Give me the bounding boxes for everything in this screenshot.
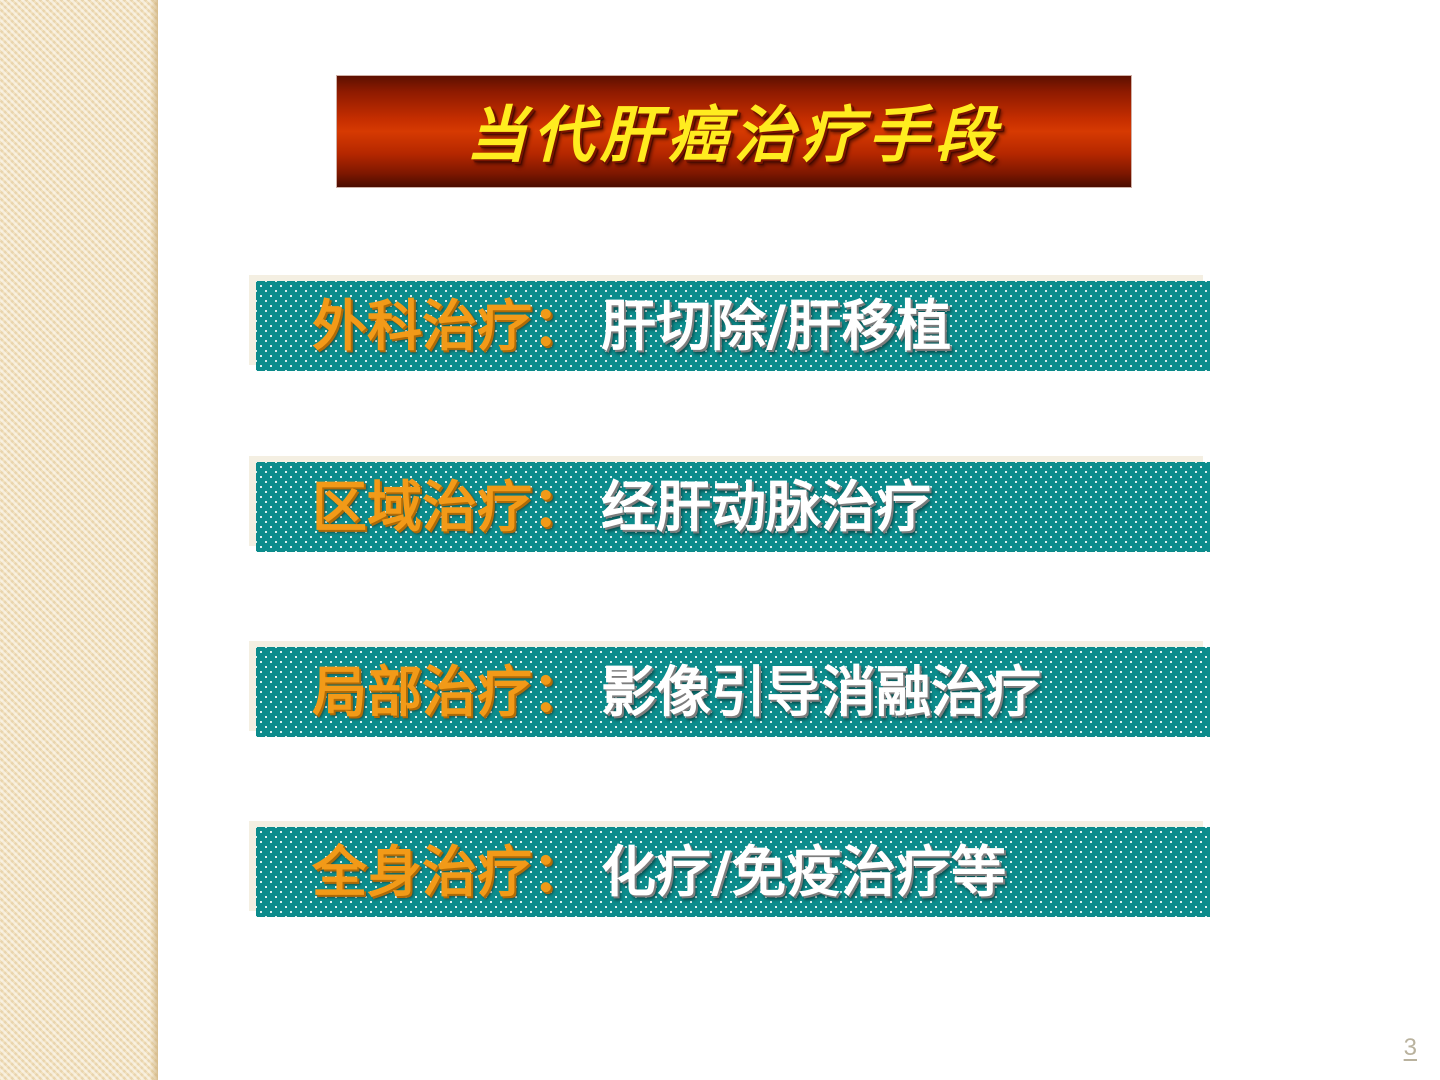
- treatment-category-label: 区域治疗：: [312, 480, 587, 535]
- treatment-bar-surgical: 外科治疗： 肝切除/肝移植: [256, 281, 1210, 371]
- treatment-detail-value: 化疗/免疫治疗等: [601, 845, 1006, 900]
- treatment-bar-regional: 区域治疗： 经肝动脉治疗: [256, 462, 1210, 552]
- treatment-detail-value: 影像引导消融治疗: [601, 665, 1041, 720]
- title-banner: 当代肝癌治疗手段: [337, 76, 1131, 187]
- treatment-category-label: 局部治疗：: [312, 665, 587, 720]
- sidebar-edge-shading: [150, 0, 158, 1080]
- treatment-bar-systemic: 全身治疗： 化疗/免疫治疗等: [256, 827, 1210, 917]
- slide-title: 当代肝癌治疗手段: [466, 85, 1002, 174]
- decorative-sidebar-texture: [0, 0, 158, 1080]
- treatment-category-label: 外科治疗：: [312, 299, 587, 354]
- slide-canvas: 当代肝癌治疗手段 外科治疗： 肝切除/肝移植 区域治疗： 经肝动脉治疗 局部治疗…: [0, 0, 1440, 1080]
- treatment-detail-value: 肝切除/肝移植: [601, 299, 951, 354]
- page-number: 3: [1404, 1034, 1417, 1062]
- treatment-detail-value: 经肝动脉治疗: [601, 480, 931, 535]
- treatment-category-label: 全身治疗：: [312, 845, 587, 900]
- treatment-bar-local: 局部治疗： 影像引导消融治疗: [256, 647, 1210, 737]
